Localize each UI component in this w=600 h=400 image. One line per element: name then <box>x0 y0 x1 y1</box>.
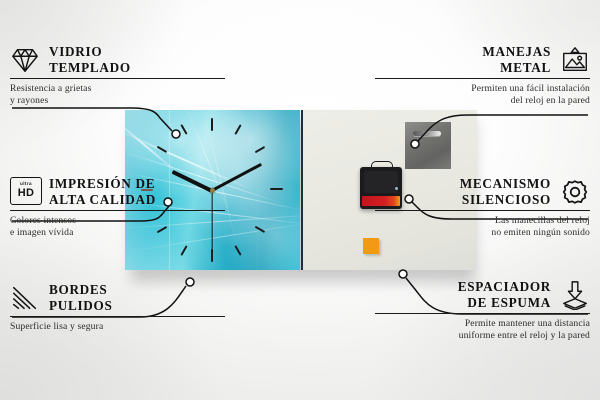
feature-polished-edges: BORDES PULIDOS Superficie lisa y segura <box>10 282 225 333</box>
gear-icon <box>560 177 590 207</box>
feature-divider <box>375 78 590 79</box>
feature-metal-handles: MANEJAS METAL Permiten una fácil instala… <box>375 44 590 107</box>
beveled-edge-icon <box>10 283 40 313</box>
feature-hd-print: ultra HD IMPRESIÓN DE ALTA CALIDAD Color… <box>10 176 225 239</box>
feature-title: MECANISMO SILENCIOSO <box>460 176 551 207</box>
feature-title: VIDRIO TEMPLADO <box>49 44 131 75</box>
feature-foam-spacer: ESPACIADOR DE ESPUMA Permite mantener un… <box>375 279 590 342</box>
feature-description: Resistencia a grietas y rayones <box>10 83 225 106</box>
foam-spacer-icon <box>560 280 590 310</box>
feature-divider <box>10 210 225 211</box>
foam-spacer-pad <box>363 238 379 254</box>
feature-divider <box>375 313 590 314</box>
infographic-canvas: VIDRIO TEMPLADO Resistencia a grietas y … <box>0 0 600 400</box>
feature-description: Permite mantener una distancia uniforme … <box>375 318 590 341</box>
metal-hanger-plate <box>405 122 451 169</box>
feature-divider <box>10 78 225 79</box>
ultra-hd-icon: ultra HD <box>10 177 40 207</box>
feature-title: BORDES PULIDOS <box>49 282 113 313</box>
mechanism-hook <box>371 161 393 170</box>
feature-divider <box>10 316 225 317</box>
feature-divider <box>375 210 590 211</box>
ultra-hd-large-label: HD <box>18 188 35 199</box>
feature-title: ESPACIADOR DE ESPUMA <box>458 279 551 310</box>
hanger-slot <box>413 131 441 136</box>
feature-title: IMPRESIÓN DE ALTA CALIDAD <box>49 176 156 207</box>
feature-tempered-glass: VIDRIO TEMPLADO Resistencia a grietas y … <box>10 44 225 107</box>
feature-description: Superficie lisa y segura <box>10 321 225 333</box>
feature-description: Las manecillas del reloj no emiten ningú… <box>375 215 590 238</box>
feature-description: Colores intensos e imagen vívida <box>10 215 225 238</box>
feature-title: MANEJAS METAL <box>482 44 551 75</box>
diamond-icon <box>10 45 40 75</box>
feature-silent-mechanism: MECANISMO SILENCIOSO Las manecillas del … <box>375 176 590 239</box>
feature-description: Permiten una fácil instalación del reloj… <box>375 83 590 106</box>
picture-frame-hanger-icon <box>560 45 590 75</box>
